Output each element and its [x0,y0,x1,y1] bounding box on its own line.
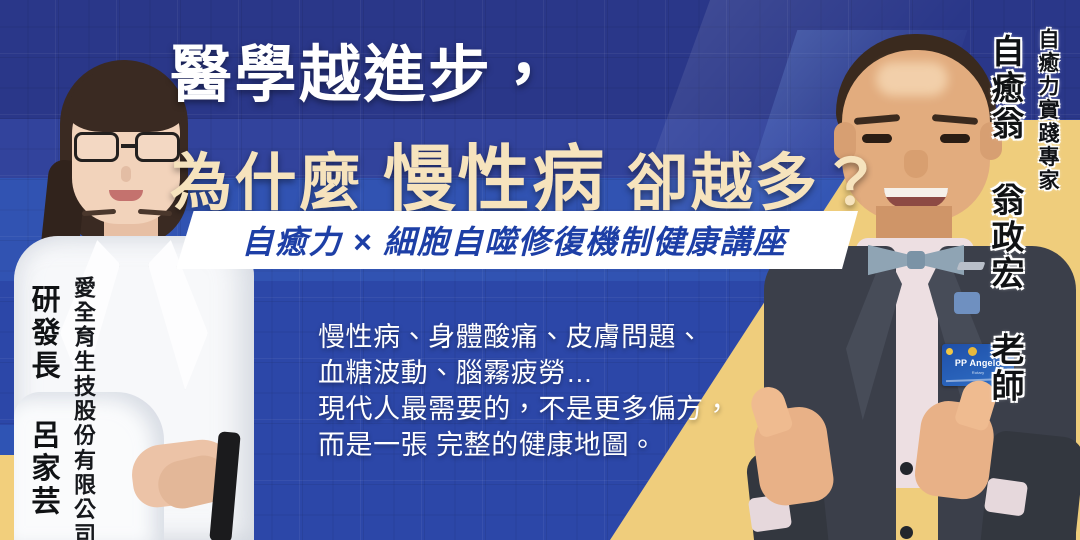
left-speaker-company: 愛全育生技股份有限公司 [72,276,94,540]
subtitle-ribbon: 自癒力 × 細胞自噬修復機制健康講座 [176,211,852,269]
right-speaker-photo: PP Angelo Rotary [750,10,1080,540]
mouth [884,188,948,208]
glasses-icon [72,132,182,162]
lens-right [135,132,180,162]
teeth [884,188,948,197]
bow-tie-wing-right [919,242,964,278]
nose [121,166,131,182]
body-line-4: 而是一張 完整的健康地圖。 [318,428,748,464]
eye-right [940,134,970,143]
nose [904,150,928,178]
ear-left [834,122,856,160]
body-copy-block: 慢性病、身體酸痛、皮膚問題、 血糖波動、腦霧疲勞… 現代人最需要的，不是更多偏方… [318,320,748,464]
subtitle-text: 自癒力 × 細胞自噬修復機制健康講座 [241,217,786,263]
body-line-2: 血糖波動、腦霧疲勞… [318,356,748,392]
eye-left [862,134,892,143]
rotary-logo-icon [946,348,953,355]
thumbs-up-right-icon [912,398,997,502]
glasses-bridge [121,144,135,148]
lens-left [74,132,119,162]
promo-banner: PP Angelo Rotary 醫學越進步， 為什麼 慢性病 卻越多？ 自癒力… [0,0,1080,540]
bow-tie-knot [907,251,925,269]
forehead-highlight [876,62,948,96]
right-speaker-name: 自癒翁 翁政宏 老師 [989,34,1022,405]
left-speaker-name: 研發長 呂家芸 博士 [28,284,57,540]
body-line-1: 慢性病、身體酸痛、皮膚問題、 [318,320,748,356]
lapel-pin-icon [954,292,980,314]
collar-logo [957,262,986,270]
jacket-button-lower [900,526,913,539]
fringe [68,70,184,132]
jacket-button-upper [900,462,913,475]
bow-tie [868,242,964,278]
right-speaker-role: 自癒力實踐專家 [1037,28,1058,193]
shirt-cuff-right [984,477,1028,516]
body-line-3: 現代人最需要的，不是更多偏方， [318,392,748,428]
rotary-wheel-icon [968,347,977,356]
